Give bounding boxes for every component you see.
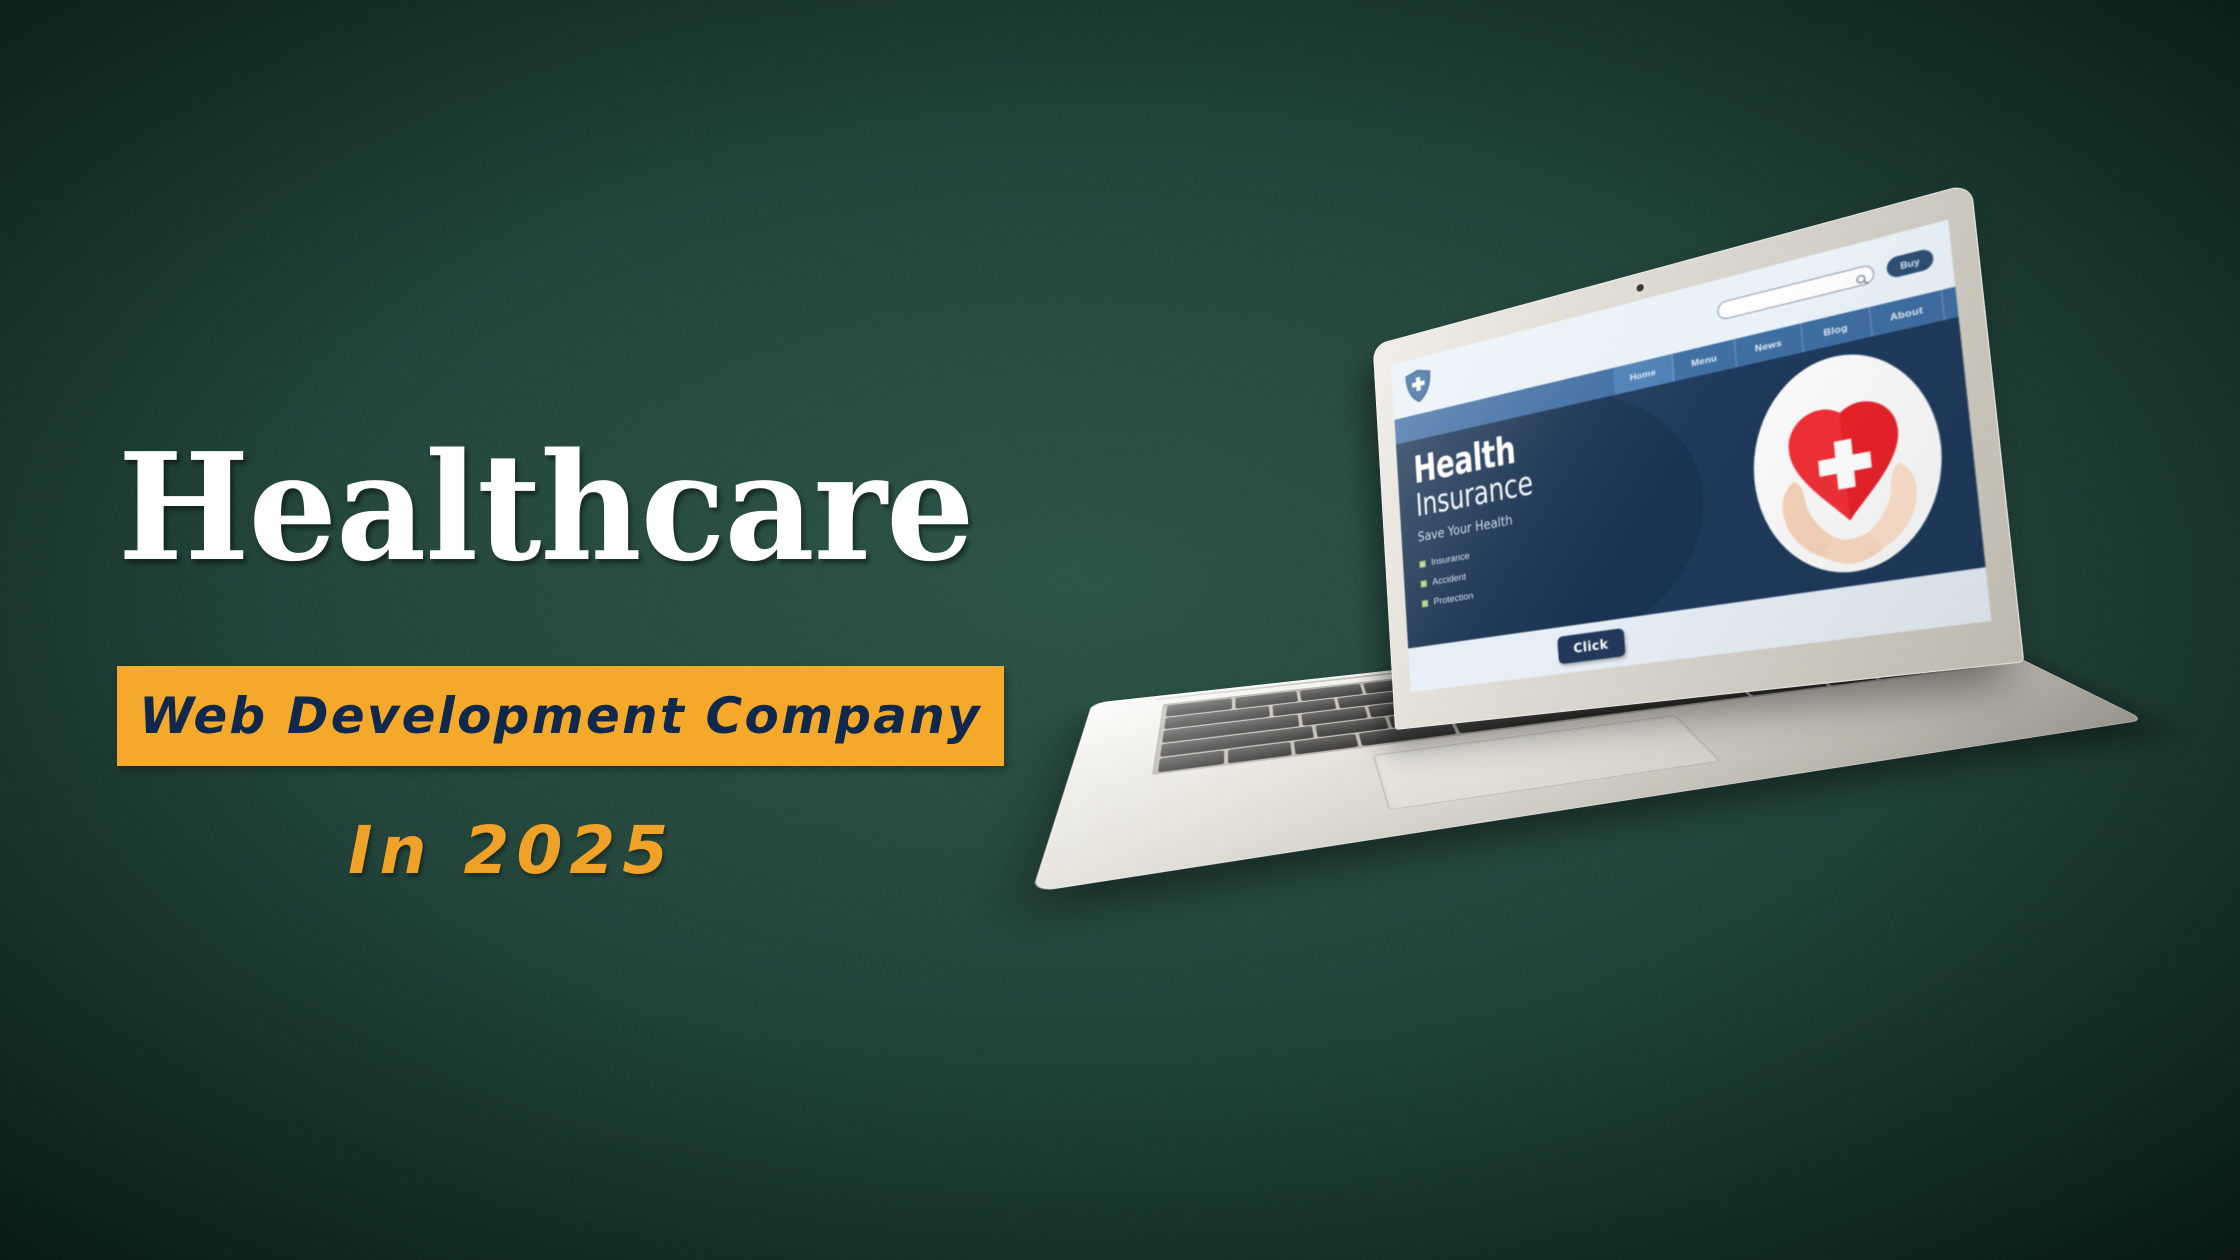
hero-copy: Health Insurance Save Your Health Insura…: [1413, 426, 1555, 619]
webcam-icon: [1636, 283, 1644, 292]
buy-button[interactable]: Buy: [1886, 247, 1935, 279]
nav-overflow[interactable]: [1942, 287, 1959, 320]
laptop-mockup: Buy Home Menu News Blog About: [1170, 330, 2100, 950]
healthcare-banner: Healthcare Web Development Company In 20…: [0, 0, 2240, 1260]
subtitle-band: Web Development Company: [117, 666, 1004, 766]
heart-in-hands-icon: [1744, 330, 1955, 589]
click-button[interactable]: Click: [1557, 628, 1625, 664]
list-item-label: Protection: [1433, 590, 1473, 607]
bullet-square-icon: [1419, 560, 1426, 568]
list-item-label: Accident: [1432, 571, 1466, 588]
bullet-square-icon: [1422, 600, 1429, 608]
page-title: Healthcare: [118, 432, 964, 582]
subtitle-text: Web Development Company: [139, 687, 982, 745]
list-item-label: Insurance: [1431, 550, 1470, 568]
shield-cross-icon: [1404, 365, 1433, 406]
hero-feature-list: Insurance Accident Protection: [1419, 536, 1554, 609]
headline-block: Healthcare Web Development Company In 20…: [0, 0, 1100, 1260]
tagline-year: In 2025: [348, 812, 675, 889]
search-icon[interactable]: [1855, 269, 1869, 283]
bullet-square-icon: [1420, 580, 1427, 588]
